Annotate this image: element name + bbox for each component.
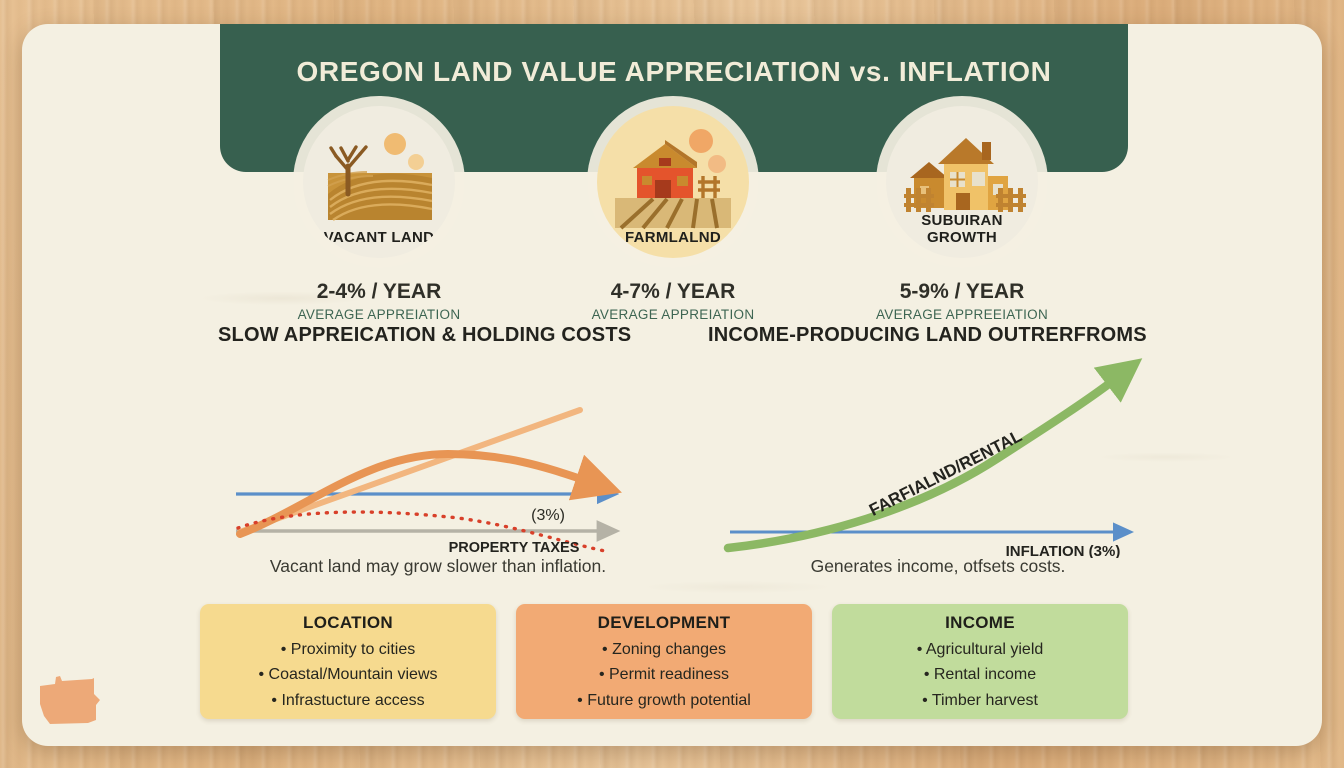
infographic-poster: OREGON LAND VALUE APPRECIATION vs. INFLA… [22,24,1322,746]
stat-farmland: FARMLALND 4-7% / YEAR AVERAGE APPREIATIO… [553,106,793,322]
list-item: • Rental income [832,662,1128,687]
list-item: • Agricultural yield [832,637,1128,662]
farmland-rental-label: FARFIALND/RENTAL [866,426,1025,520]
farmland-rental-growth-curve [728,380,1114,548]
stat-subtitle: AVERAGE APPREIATION [259,307,499,322]
stat-rate: 5-9% / YEAR [842,280,1082,304]
chart-title-left: SLOW APPREICATION & HOLDING COSTS [218,324,658,347]
chart-panel-income-land: INCOME-PRODUCING LAND OUTRERFROMS FARFIA… [708,324,1168,347]
chart-caption-left: Vacant land may grow slower than inflati… [218,556,658,577]
stat-rate: 4-7% / YEAR [553,280,793,304]
vacant-land-badge: VACANT LAND [303,106,455,258]
card-list: • Proximity to cities • Coastal/Mountain… [200,637,496,713]
list-item: • Permit readiness [516,662,812,687]
list-item: • Future growth potential [516,688,812,713]
page-title: OREGON LAND VALUE APPRECIATION vs. INFLA… [220,56,1128,88]
stat-subtitle: AVERAGE APPREEIATION [842,307,1082,322]
list-item: • Timber harvest [832,688,1128,713]
stat-suburban-growth: SUBUIRAN GROWTH 5-9% / YEAR AVERAGE APPR… [842,106,1082,322]
list-item: • Coastal/Mountain views [200,662,496,687]
list-item: • Infrastucture access [200,688,496,713]
chart-left-svg: (3%) PROPERTY TAXES & MAINTENANCE [218,358,658,558]
factor-card-income: INCOME • Agricultural yield • Rental inc… [832,604,1128,719]
chart-right-svg: FARFIALND/RENTAL INFLATION (3%) [708,358,1168,558]
badge-label: VACANT LAND [303,229,455,246]
factor-card-location: LOCATION • Proximity to cities • Coastal… [200,604,496,719]
holding-cost-label-line1: PROPERTY TAXES [449,540,580,556]
chart-caption-right: Generates income, otfsets costs. [708,556,1168,577]
badge-label: SUBUIRAN GROWTH [886,212,1038,246]
card-list: • Agricultural yield • Rental income • T… [832,637,1128,713]
oregon-state-shape [36,664,120,736]
inflation-percent-label: (3%) [531,507,565,524]
chart-title-right: INCOME-PRODUCING LAND OUTRERFROMS [708,324,1168,347]
chart-panel-holding-costs: SLOW APPREICATION & HOLDING COSTS [218,324,658,347]
stat-subtitle: AVERAGE APPREIATION [553,307,793,322]
list-item: • Zoning changes [516,637,812,662]
farmland-badge: FARMLALND [597,106,749,258]
card-title: INCOME [832,613,1128,633]
suburban-growth-badge: SUBUIRAN GROWTH [886,106,1038,258]
card-list: • Zoning changes • Permit readiness • Fu… [516,637,812,713]
badge-label: FARMLALND [597,229,749,246]
card-title: DEVELOPMENT [516,613,812,633]
stat-rate: 2-4% / YEAR [259,280,499,304]
stat-vacant-land: VACANT LAND 2-4% / YEAR AVERAGE APPREIAT… [259,106,499,322]
card-title: LOCATION [200,613,496,633]
list-item: • Proximity to cities [200,637,496,662]
factor-card-development: DEVELOPMENT • Zoning changes • Permit re… [516,604,812,719]
